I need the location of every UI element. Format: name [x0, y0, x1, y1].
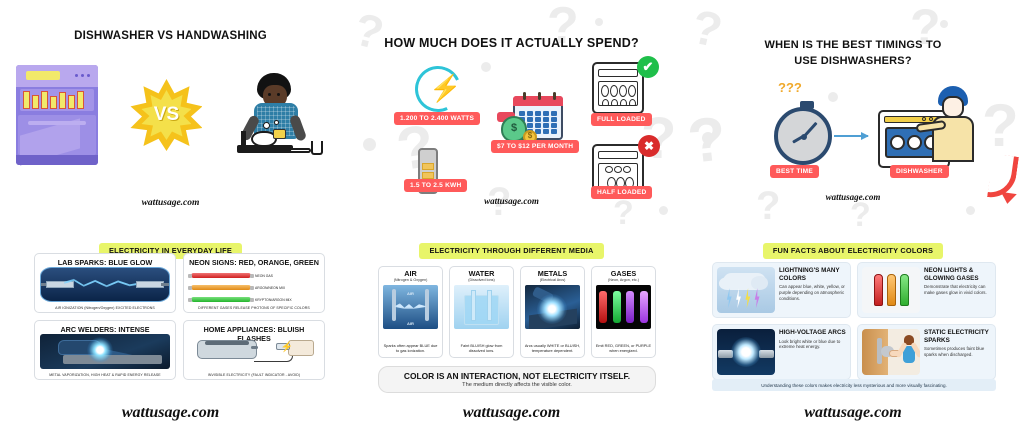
card-subtitle: (Electrical Arcs): [523, 278, 582, 282]
tag-cost: $7 TO $12 PER MONTH: [491, 140, 579, 153]
infographic-sheet: DISHWASHER VS HANDWASHING VS: [0, 0, 1024, 434]
lightning-bolt-icon: ⚡: [429, 75, 461, 101]
card-lightning-colors: LIGHTNING'S MANY COLORS Can appear blue,…: [712, 262, 851, 318]
card-title: LIGHTNING'S MANY COLORS: [779, 267, 846, 282]
card-text: HIGH-VOLTAGE ARCS Look bright white or b…: [779, 329, 846, 375]
card-title: HIGH-VOLTAGE ARCS: [779, 329, 846, 337]
neon-tubes-icon: NEON GAS ARGON/NEON MIX KRYPTON/ARGON MI…: [189, 267, 319, 302]
handwashing-person-icon: [235, 71, 325, 159]
card-air: AIR (Nitrogen & Oxygen) AIR AIR Sparks o…: [378, 266, 443, 358]
neon-tube-label: NEON GAS: [255, 274, 317, 278]
toaster-outlet-icon: ⚡: [189, 334, 319, 369]
card-metals: METALS (Electrical Arcs) Arcs usually WH…: [520, 266, 585, 358]
dishwasher-illustration-icon: [16, 65, 98, 165]
banner-title: COLOR IS AN INTERACTION, NOT ELECTRICITY…: [385, 371, 649, 381]
tag-best-time: BEST TIME: [770, 165, 819, 178]
fun-facts-card-grid: LIGHTNING'S MANY COLORS Can appear blue,…: [712, 262, 996, 380]
static-spark-thumbnail: [862, 329, 920, 375]
card-home-appliances: HOME APPLIANCES: BLUISH FLASHES ⚡ INVISI…: [183, 320, 325, 380]
card-subtitle: (Dissolved Ions): [452, 278, 511, 282]
panel5-watermark: wattusage.com: [341, 404, 682, 422]
vs-label: VS: [154, 104, 179, 126]
card-title: WATER: [452, 270, 511, 278]
card-text: STATIC ELECTRICITY SPARKS Sometimes prod…: [924, 329, 991, 375]
panel3-watermark: wattusage.com: [682, 192, 1024, 202]
neon-tube-label: KRYPTON/ARGON MIX: [255, 298, 317, 302]
lightning-thumbnail: [717, 267, 775, 313]
card-caption: METAL VAPORIZATION, HIGH HEAT & RAPID EN…: [38, 373, 172, 377]
welder-icon: [40, 334, 170, 369]
neon-lights-thumbnail: [862, 267, 920, 313]
dishwasher-full-icon: [592, 62, 644, 114]
neon-tube-label: ARGON/NEON MIX: [255, 286, 317, 290]
water-beaker-thumbnail: [454, 285, 508, 329]
panel-how-much-spend: ? ? ? ? ? ? HOW MUCH DOES IT ACTUALLY SP…: [341, 0, 682, 230]
vacuum-tube-icon: [40, 267, 170, 302]
panel1-illustration-row: VS: [0, 60, 341, 170]
card-neon-lights: NEON LIGHTS & GLOWING GASES Demonstrate …: [857, 262, 996, 318]
gas-tubes-thumbnail: [596, 285, 650, 329]
card-caption: Faint BLUISH glow from dissolved ions.: [453, 344, 510, 354]
cross-badge-icon: ✖: [638, 135, 660, 157]
tag-full-loaded: FULL LOADED: [591, 113, 652, 126]
panel2-watermark: wattusage.com: [341, 196, 682, 206]
air-spark-thumbnail: AIR AIR: [383, 285, 437, 329]
high-voltage-arc-thumbnail: [717, 329, 775, 375]
card-water: WATER (Dissolved Ions) Faint BLUISH glow…: [449, 266, 514, 358]
card-title: LAB SPARKS: BLUE GLOW: [38, 258, 172, 267]
metal-arc-thumbnail: [525, 285, 579, 329]
panel5-header-badge: ELECTRICITY THROUGH DIFFERENT MEDIA: [419, 243, 603, 259]
card-caption: INVISIBLE ELECTRICITY (FAULT INDICATOR -…: [187, 373, 321, 377]
tag-watts: 1.200 TO 2.400 WATTS: [394, 112, 480, 125]
panel3-title: WHEN IS THE BEST TIMINGS TO USE DISHWASH…: [682, 38, 1024, 70]
card-gases: GASES (Neon, Argon, etc.) Emit RED, GREE…: [591, 266, 656, 358]
card-title: STATIC ELECTRICITY SPARKS: [924, 329, 991, 344]
panel6-header-wrap: FUN FACTS ABOUT ELECTRICITY COLORS: [682, 240, 1024, 259]
card-caption: AIR IONIZATION (Nitrogen/Oxygen) EXCITED…: [38, 306, 172, 310]
card-desc: Can appear blue, white, yellow, or purpl…: [779, 284, 846, 302]
stopwatch-icon: [774, 107, 832, 165]
everyday-life-card-grid: LAB SPARKS: BLUE GLOW AIR IONIZATION (Ni…: [34, 253, 325, 380]
card-title: GASES: [594, 270, 653, 278]
question-marks-icon: ???: [778, 80, 802, 95]
card-static-electricity: STATIC ELECTRICITY SPARKS Sometimes prod…: [857, 324, 996, 380]
panel6-header-badge: FUN FACTS ABOUT ELECTRICITY COLORS: [763, 243, 943, 259]
tag-dishwasher: DISHWASHER: [890, 165, 949, 178]
through-media-card-grid: AIR (Nitrogen & Oxygen) AIR AIR Sparks o…: [378, 266, 656, 358]
card-subtitle: (Nitrogen & Oxygen): [381, 278, 440, 282]
thumb-label-bottom: AIR: [383, 321, 437, 326]
card-desc: Look bright white or blue due to extreme…: [779, 339, 846, 351]
panel2-title: HOW MUCH DOES IT ACTUALLY SPEND?: [341, 36, 682, 50]
tag-kwh: 1.5 TO 2.5 KWH: [404, 179, 467, 192]
card-desc: Sometimes produces faint blue sparks whe…: [924, 346, 991, 358]
color-interaction-banner: COLOR IS AN INTERACTION, NOT ELECTRICITY…: [378, 366, 656, 393]
banner-subtitle: The medium directly affects the visible …: [385, 382, 649, 388]
panel-best-timings: ? ? ? ? ? ? WHEN IS THE BEST TIMINGS TO …: [682, 0, 1024, 230]
arrow-right-icon: [834, 135, 868, 137]
panel1-title: DISHWASHER VS HANDWASHING: [0, 30, 341, 42]
card-subtitle: (Neon, Argon, etc.): [594, 278, 653, 282]
versus-burst-icon: VS: [130, 79, 202, 151]
fun-facts-footer-bar: Understanding these colors makes electri…: [712, 379, 996, 391]
card-lab-sparks: LAB SPARKS: BLUE GLOW AIR IONIZATION (Ni…: [34, 253, 176, 313]
card-text: LIGHTNING'S MANY COLORS Can appear blue,…: [779, 267, 846, 313]
card-caption: Sparks often appear BLUE due to gas ioni…: [382, 344, 439, 354]
card-caption: Arcs usually WHITE or BLUISH, temperatur…: [524, 344, 581, 354]
card-title: NEON LIGHTS & GLOWING GASES: [924, 267, 991, 282]
panel4-watermark: wattusage.com: [0, 404, 341, 422]
card-neon-signs: NEON SIGNS: RED, ORANGE, GREEN NEON GAS …: [183, 253, 325, 313]
card-high-voltage-arcs: HIGH-VOLTAGE ARCS Look bright white or b…: [712, 324, 851, 380]
check-badge-icon: ✔: [637, 56, 659, 78]
card-caption: DIFFERENT GASES RELEASE PHOTONS OF SPECI…: [187, 306, 321, 310]
card-title: NEON SIGNS: RED, ORANGE, GREEN: [187, 258, 321, 267]
card-title: METALS: [523, 270, 582, 278]
panel-dishwasher-vs-handwashing: DISHWASHER VS HANDWASHING VS: [0, 0, 341, 230]
panel6-watermark: wattusage.com: [682, 404, 1024, 422]
card-desc: Demonstrate that electricity can make ga…: [924, 284, 991, 296]
panel5-header-wrap: ELECTRICITY THROUGH DIFFERENT MEDIA: [341, 240, 682, 259]
card-arc-welders: ARC WELDERS: INTENSE WHITE/BLUE METAL VA…: [34, 320, 176, 380]
card-text: NEON LIGHTS & GLOWING GASES Demonstrate …: [924, 267, 991, 313]
panel1-watermark: wattusage.com: [0, 198, 341, 208]
card-title: AIR: [381, 270, 440, 278]
card-caption: Emit RED, GREEN, or PURPLE when energize…: [595, 344, 652, 354]
person-using-dishwasher-icon: [930, 86, 978, 166]
